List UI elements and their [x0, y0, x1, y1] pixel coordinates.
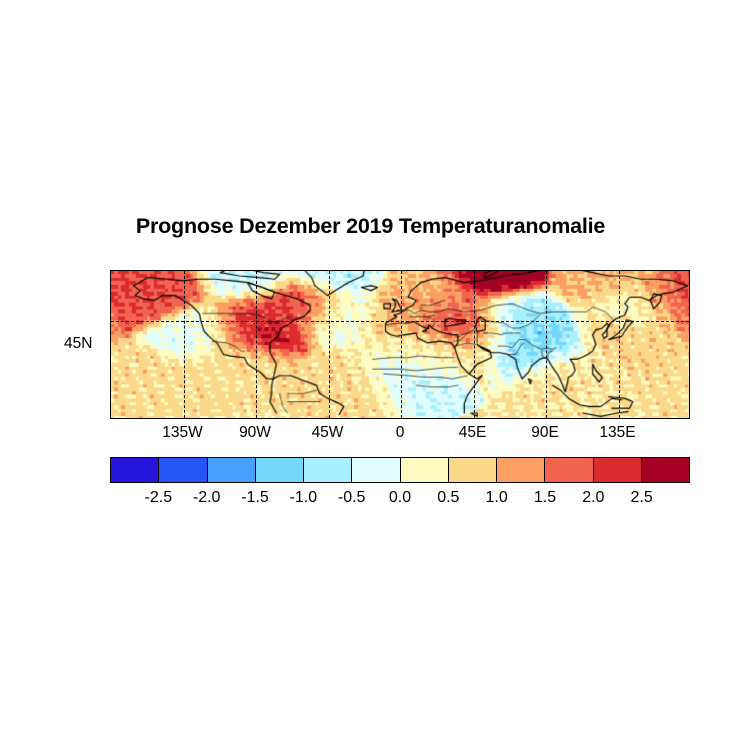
colorbar-cell-2 [208, 458, 256, 482]
gridline-lon-90w [256, 271, 257, 418]
colorbar-cell-11 [642, 458, 689, 482]
gridline-lat-45n [111, 321, 689, 322]
colorbar-tick-2.5: 2.5 [631, 489, 653, 507]
gridline-lon-45w [329, 271, 330, 418]
colorbar-cell-1 [159, 458, 207, 482]
colorbar-cell-0 [111, 458, 159, 482]
colorbar-tick--1.5: -1.5 [241, 489, 269, 507]
xtick-90w: 90W [220, 424, 290, 442]
colorbar-cell-5 [352, 458, 400, 482]
colorbar-cell-6 [401, 458, 449, 482]
colorbar-tick-0.0: 0.0 [389, 489, 411, 507]
colorbar-cell-4 [304, 458, 352, 482]
colorbar-cell-9 [545, 458, 593, 482]
gridline-lon-0 [401, 271, 402, 418]
colorbar-tick-labels: -2.5-2.0-1.5-1.0-0.50.00.51.01.52.02.5 [110, 489, 690, 511]
xtick-135e: 135E [583, 424, 653, 442]
xtick-90e: 90E [510, 424, 580, 442]
colorbar-tick--2.5: -2.5 [145, 489, 173, 507]
xtick-45w: 45W [293, 424, 363, 442]
gridline-lon-45e [474, 271, 475, 418]
colorbar-cell-7 [449, 458, 497, 482]
colorbar-tick-2.0: 2.0 [582, 489, 604, 507]
gridline-lon-90e [546, 271, 547, 418]
colorbar-cell-3 [256, 458, 304, 482]
page-title: Prognose Dezember 2019 Temperaturanomali… [0, 214, 741, 239]
colorbar-tick--2.0: -2.0 [193, 489, 221, 507]
colorbar-tick--0.5: -0.5 [338, 489, 366, 507]
colorbar-tick-0.5: 0.5 [437, 489, 459, 507]
anomaly-raster [111, 271, 689, 418]
colorbar-tick--1.0: -1.0 [290, 489, 318, 507]
climate-forecast-figure: Prognose Dezember 2019 Temperaturanomali… [0, 0, 741, 741]
temperature-anomaly-map[interactable] [110, 270, 690, 419]
colorbar[interactable] [110, 457, 690, 483]
gridline-lon-135w [184, 271, 185, 418]
xtick-0: 0 [365, 424, 435, 442]
ytick-45n: 45N [64, 335, 92, 353]
colorbar-tick-1.0: 1.0 [486, 489, 508, 507]
xtick-45e: 45E [438, 424, 508, 442]
gridline-lon-135e [619, 271, 620, 418]
colorbar-tick-1.5: 1.5 [534, 489, 556, 507]
colorbar-cell-8 [497, 458, 545, 482]
colorbar-cell-10 [594, 458, 642, 482]
xtick-135w: 135W [148, 424, 218, 442]
